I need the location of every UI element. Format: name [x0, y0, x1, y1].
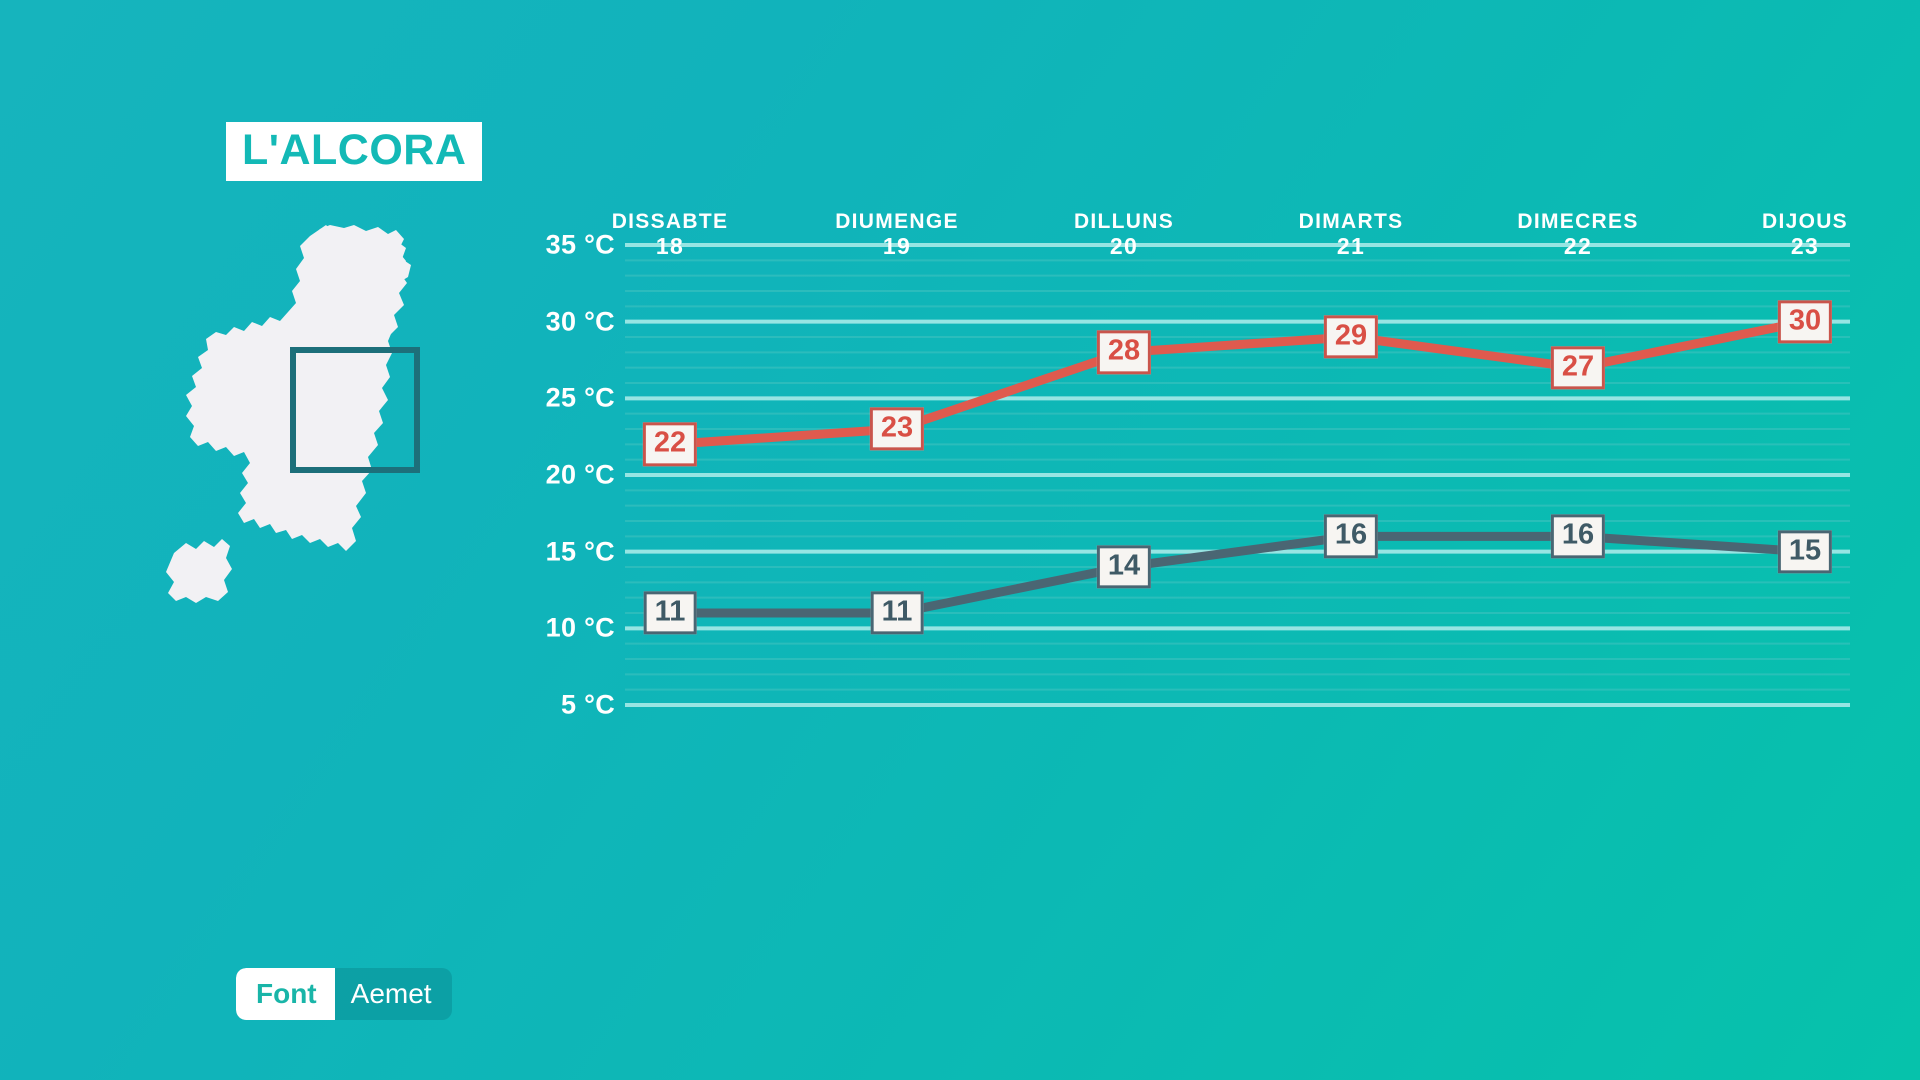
day-name: DIMARTS — [1299, 210, 1404, 234]
day-number: 21 — [1299, 234, 1404, 260]
map-highlight-box — [290, 347, 420, 473]
max-temp-label-22: 27 — [1551, 346, 1605, 389]
y-axis-tick-15: 15 °C — [546, 536, 615, 567]
gridlines-major — [625, 245, 1850, 705]
day-number: 19 — [835, 234, 959, 260]
day-column-22: DIMECRES22 — [1517, 210, 1638, 259]
source-value: Aemet — [335, 968, 452, 1020]
max-temp-label-18: 22 — [643, 423, 697, 466]
day-number: 22 — [1517, 234, 1638, 260]
day-column-21: DIMARTS21 — [1299, 210, 1404, 259]
y-axis-tick-35: 35 °C — [546, 230, 615, 261]
y-axis-tick-10: 10 °C — [546, 613, 615, 644]
day-name: DILLUNS — [1074, 210, 1174, 234]
day-name: DISSABTE — [612, 210, 729, 234]
max-temp-label-19: 23 — [870, 407, 924, 450]
day-number: 23 — [1762, 234, 1848, 260]
day-column-23: DIJOUS23 — [1762, 210, 1848, 259]
min-temp-label-23: 15 — [1778, 530, 1832, 573]
chart-plot-svg — [520, 210, 1860, 900]
day-name: DIJOUS — [1762, 210, 1848, 234]
temperature-chart: 5 °C10 °C15 °C20 °C25 °C30 °C35 °C DISSA… — [520, 210, 1860, 900]
min-temp-label-20: 14 — [1097, 545, 1151, 588]
min-temp-label-21: 16 — [1324, 515, 1378, 558]
y-axis-tick-25: 25 °C — [546, 383, 615, 414]
min-temp-label-18: 11 — [644, 591, 697, 634]
day-name: DIMECRES — [1517, 210, 1638, 234]
day-number: 20 — [1074, 234, 1174, 260]
day-number: 18 — [612, 234, 729, 260]
day-column-20: DILLUNS20 — [1074, 210, 1174, 259]
max-temp-label-21: 29 — [1324, 315, 1378, 358]
min-temp-line — [670, 536, 1805, 613]
max-temp-label-23: 30 — [1778, 300, 1832, 343]
region-map — [130, 225, 490, 785]
min-temp-label-22: 16 — [1551, 515, 1605, 558]
location-title-badge: L'ALCORA — [226, 122, 482, 181]
day-name: DIUMENGE — [835, 210, 959, 234]
y-axis-tick-5: 5 °C — [561, 690, 615, 721]
map-shape-svg — [130, 225, 490, 785]
min-temp-label-19: 11 — [871, 591, 924, 634]
page-title: L'ALCORA — [242, 126, 466, 174]
max-temp-label-20: 28 — [1097, 331, 1151, 374]
source-label: Font — [236, 968, 335, 1020]
y-axis-tick-30: 30 °C — [546, 306, 615, 337]
y-axis-tick-20: 20 °C — [546, 460, 615, 491]
day-column-19: DIUMENGE19 — [835, 210, 959, 259]
day-column-18: DISSABTE18 — [612, 210, 729, 259]
source-badge: Font Aemet — [236, 968, 452, 1020]
